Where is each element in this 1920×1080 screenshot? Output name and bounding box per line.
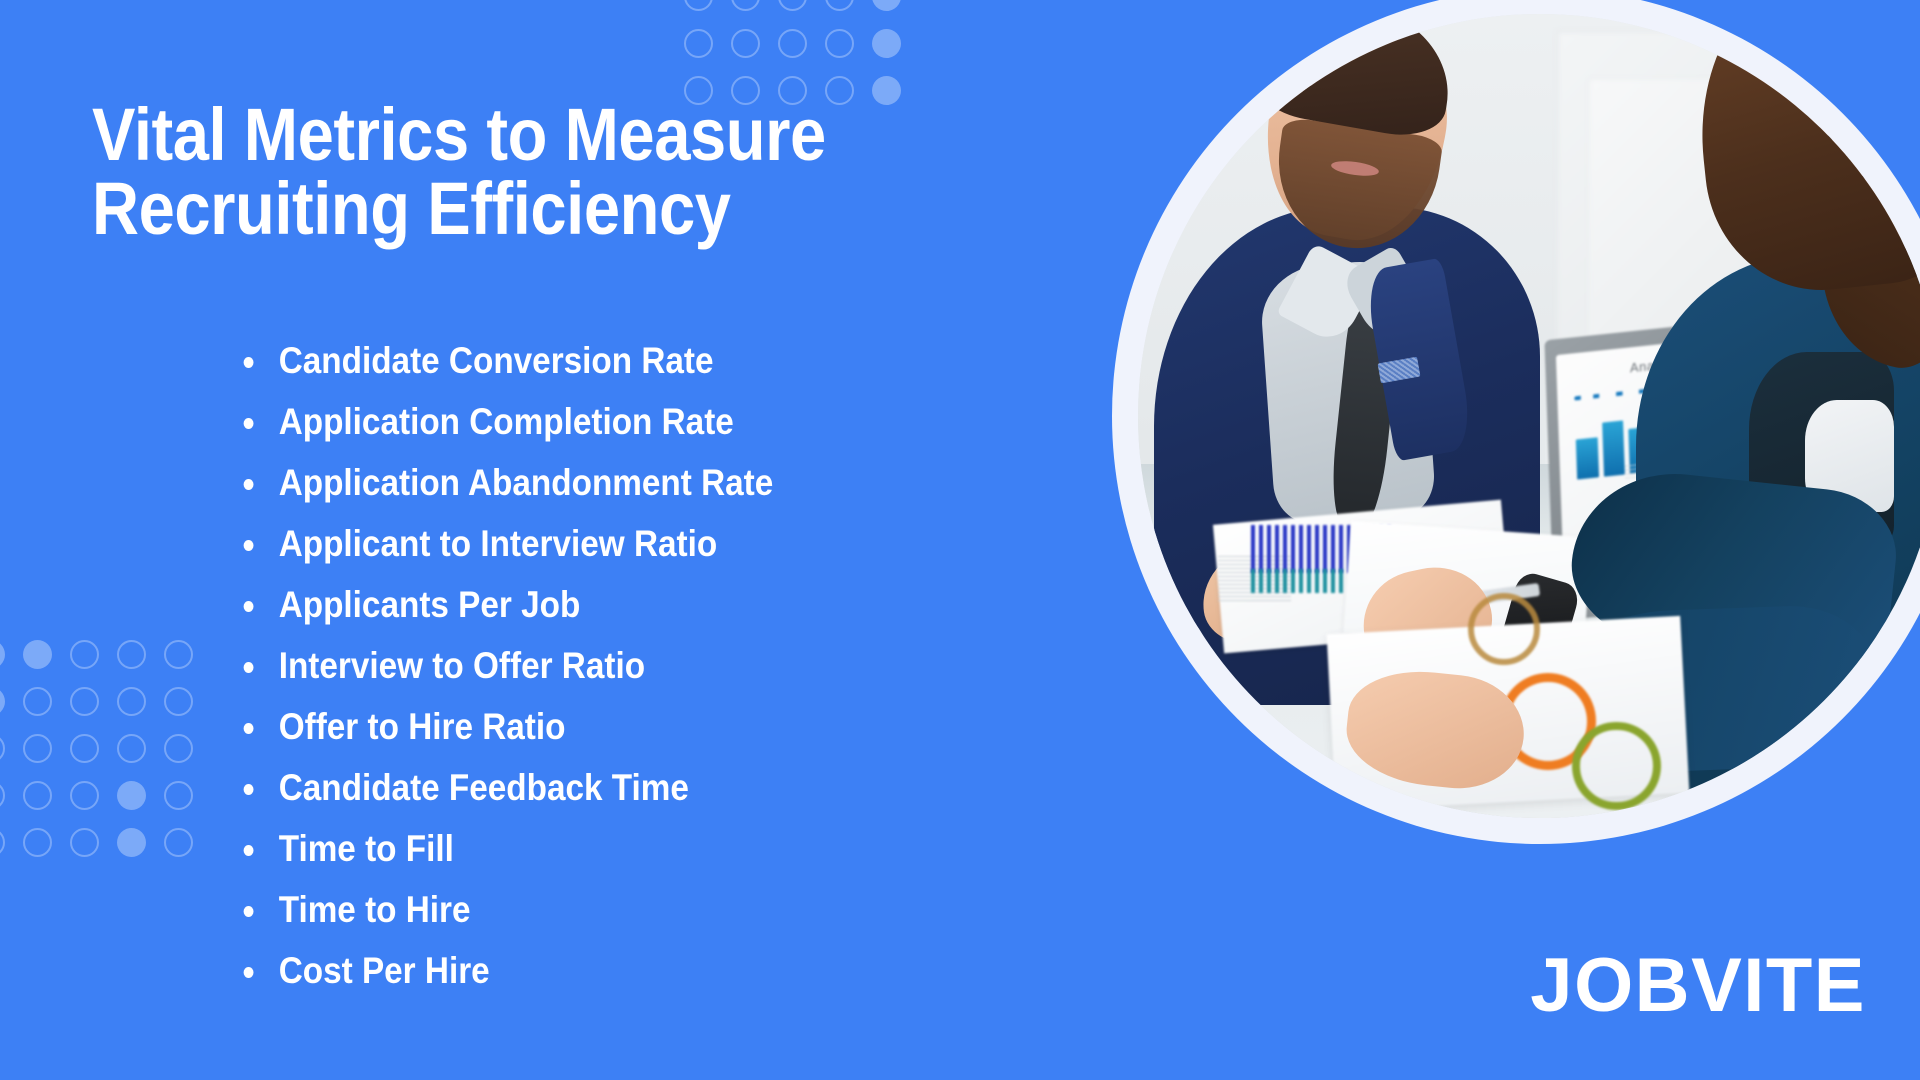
bullet-icon (244, 723, 254, 734)
bullet-icon (244, 662, 254, 673)
photo-donut-chart-gold (1468, 593, 1540, 665)
list-item: Candidate Conversion Rate (240, 330, 773, 391)
list-item-label: Time to Fill (279, 828, 454, 869)
photo-paper-left-bars-teal (1251, 569, 1347, 593)
poster-canvas: Vital Metrics to Measure Recruiting Effi… (0, 0, 1920, 1080)
hero-photo: Analytic (1138, 14, 1920, 818)
bullet-icon (244, 906, 254, 917)
list-item: Application Completion Rate (240, 391, 773, 452)
list-item-label: Applicant to Interview Ratio (279, 523, 717, 564)
bullet-icon (244, 479, 254, 490)
list-item-label: Application Completion Rate (279, 401, 734, 442)
page-title: Vital Metrics to Measure Recruiting Effi… (92, 98, 919, 246)
list-item-label: Applicants Per Job (279, 584, 581, 625)
list-item-label: Cost Per Hire (279, 950, 490, 991)
content-column: Vital Metrics to Measure Recruiting Effi… (0, 0, 1080, 1080)
metrics-list: Candidate Conversion RateApplication Com… (240, 330, 833, 1001)
bullet-icon (244, 540, 254, 551)
list-item-label: Offer to Hire Ratio (279, 706, 566, 747)
hero-photo-ring: Analytic (1112, 0, 1920, 844)
bullet-icon (244, 357, 254, 368)
list-item-label: Application Abandonment Rate (279, 462, 774, 503)
list-item: Cost Per Hire (240, 940, 773, 1001)
jobvite-logo: JOBVITE (1530, 948, 1866, 1024)
list-item-label: Candidate Conversion Rate (279, 340, 714, 381)
list-item: Applicant to Interview Ratio (240, 513, 773, 574)
list-item: Application Abandonment Rate (240, 452, 773, 513)
list-item-label: Interview to Offer Ratio (279, 645, 645, 686)
list-item-label: Candidate Feedback Time (279, 767, 689, 808)
list-item: Time to Fill (240, 818, 773, 879)
list-item: Candidate Feedback Time (240, 757, 773, 818)
page-title-line-1: Vital Metrics to Measure (92, 98, 919, 172)
bullet-icon (244, 784, 254, 795)
photo-donut-chart-green (1572, 722, 1660, 810)
list-item-label: Time to Hire (279, 889, 471, 930)
bullet-icon (244, 601, 254, 612)
bullet-icon (244, 967, 254, 978)
list-item: Time to Hire (240, 879, 773, 940)
list-item: Interview to Offer Ratio (240, 635, 773, 696)
bullet-icon (244, 845, 254, 856)
list-item: Offer to Hire Ratio (240, 696, 773, 757)
bullet-icon (244, 418, 254, 429)
page-title-line-2: Recruiting Efficiency (92, 172, 919, 246)
list-item: Applicants Per Job (240, 574, 773, 635)
